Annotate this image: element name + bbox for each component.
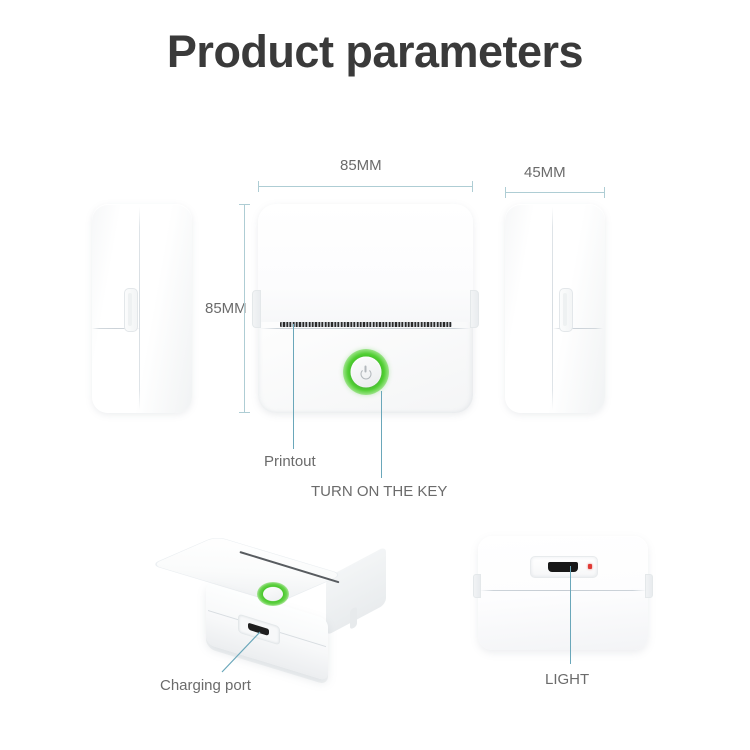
callout-label-charging-port: Charging port xyxy=(160,677,251,694)
page-title: Product parameters xyxy=(0,26,750,78)
perspective-power-button-face xyxy=(263,587,283,601)
paper-slot xyxy=(280,322,452,327)
front-view xyxy=(258,204,473,413)
bottom-front-view xyxy=(478,536,648,650)
left-side-view xyxy=(92,204,192,413)
power-icon xyxy=(360,366,373,379)
dimension-line-height-front xyxy=(244,204,245,413)
perspective-power-button[interactable] xyxy=(257,582,289,606)
callout-label-light: LIGHT xyxy=(545,671,589,688)
dimension-label-width-front: 85MM xyxy=(340,157,382,174)
right-side-view xyxy=(505,204,605,413)
paper-door-latch xyxy=(124,288,138,332)
callout-label-printout: Printout xyxy=(264,453,316,470)
port-recess xyxy=(530,556,598,578)
printer-lid xyxy=(258,204,473,322)
dimension-label-height-front: 85MM xyxy=(205,300,247,317)
bottom-grip-tab-left xyxy=(473,574,481,598)
side-grip-tab-left xyxy=(252,290,261,328)
side-edge-seam xyxy=(139,207,140,410)
product-parameters-page: Product parameters 85MM 85MM 45MM Printo… xyxy=(0,0,750,750)
dimension-line-depth-side xyxy=(505,192,605,193)
paper-door-latch xyxy=(559,288,573,332)
callout-line-power-key xyxy=(381,391,382,478)
callout-line-printout xyxy=(293,324,294,449)
perspective-grip-tab xyxy=(350,606,357,630)
bottom-seam-line xyxy=(480,590,646,591)
lid-seam-line xyxy=(260,328,471,329)
perspective-top-face xyxy=(150,536,344,603)
bottom-grip-tab-right xyxy=(645,574,653,598)
side-edge-seam xyxy=(552,207,553,410)
dimension-label-depth-side: 45MM xyxy=(524,164,566,181)
callout-label-power-key: TURN ON THE KEY xyxy=(311,483,447,500)
callout-line-light xyxy=(570,566,571,664)
power-button[interactable] xyxy=(343,349,389,395)
power-button-face xyxy=(351,357,382,388)
dimension-line-width-front xyxy=(258,186,473,187)
side-grip-tab-right xyxy=(470,290,479,328)
usb-port xyxy=(548,562,578,572)
callout-line-charging-port xyxy=(150,630,270,680)
status-led xyxy=(588,564,592,569)
